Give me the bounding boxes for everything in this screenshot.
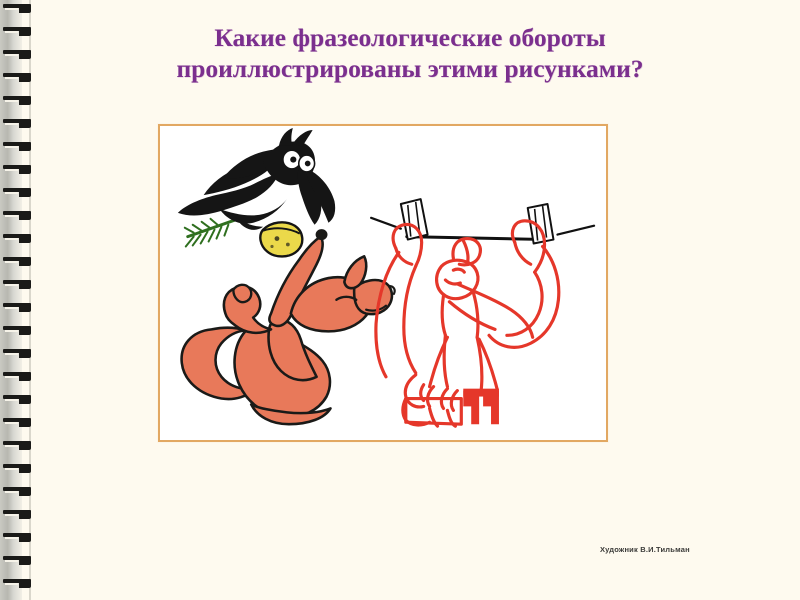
binding-ring-gap [5, 54, 18, 56]
binding-ring [3, 280, 31, 289]
binding-ring-hook [19, 27, 31, 36]
artist-credit: Художник В.И.Тильман [600, 545, 790, 554]
binding-ring-hook [19, 303, 31, 312]
title-line-2: проиллюстрированы этими рисунками? [60, 53, 760, 84]
binding-ring-hook [19, 395, 31, 404]
binding-ring-gap [5, 491, 18, 493]
binding-ring [3, 372, 31, 381]
title-line-1: Какие фразеологические обороты [60, 22, 760, 53]
binding-ring [3, 119, 31, 128]
binding-ring [3, 96, 31, 105]
binding-ring-gap [5, 123, 18, 125]
binding-ring-hook [19, 464, 31, 473]
binding-ring-hook [19, 142, 31, 151]
binding-ring-hook [19, 280, 31, 289]
binding-ring-gap [5, 445, 18, 447]
binding-ring-gap [5, 146, 18, 148]
spiral-binding [0, 0, 40, 600]
binding-ring [3, 418, 31, 427]
binding-ring-gap [5, 537, 18, 539]
binding-ring [3, 257, 31, 266]
binding-ring [3, 50, 31, 59]
binding-ring-hook [19, 4, 31, 13]
binding-ring [3, 487, 31, 496]
page-title: Какие фразеологические обороты проиллюст… [60, 22, 760, 84]
binding-ring [3, 211, 31, 220]
binding-ring [3, 303, 31, 312]
binding-ring-hook [19, 96, 31, 105]
binding-ring [3, 510, 31, 519]
binding-ring-gap [5, 169, 18, 171]
binding-ring-gap [5, 8, 18, 10]
slide-canvas: Какие фразеологические обороты проиллюст… [0, 0, 800, 600]
binding-ring-hook [19, 418, 31, 427]
binding-ring [3, 326, 31, 335]
binding-ring [3, 349, 31, 358]
binding-ring-hook [19, 73, 31, 82]
illustration-frame [158, 124, 608, 442]
binding-ring [3, 464, 31, 473]
binding-ring [3, 142, 31, 151]
binding-ring-hook [19, 211, 31, 220]
binding-ring-hook [19, 372, 31, 381]
illustration-artwork [160, 126, 606, 440]
binding-ring-gap [5, 583, 18, 585]
binding-ring-gap [5, 468, 18, 470]
binding-ring [3, 556, 31, 565]
cheese-icon [260, 222, 302, 256]
binding-ring-gap [5, 192, 18, 194]
binding-ring [3, 165, 31, 174]
binding-ring [3, 188, 31, 197]
binding-ring-gap [5, 31, 18, 33]
binding-ring-hook [19, 556, 31, 565]
binding-ring [3, 579, 31, 588]
binding-ring-gap [5, 422, 18, 424]
binding-ring-hook [19, 50, 31, 59]
binding-ring [3, 27, 31, 36]
binding-ring [3, 73, 31, 82]
binding-ring [3, 533, 31, 542]
binding-ring-gap [5, 353, 18, 355]
binding-ring-gap [5, 399, 18, 401]
binding-ring-gap [5, 261, 18, 263]
binding-ring-gap [5, 215, 18, 217]
binding-ring-gap [5, 238, 18, 240]
binding-ring-gap [5, 514, 18, 516]
binding-ring-hook [19, 188, 31, 197]
binding-ring [3, 4, 31, 13]
binding-ring-gap [5, 330, 18, 332]
binding-ring-gap [5, 284, 18, 286]
binding-ring-gap [5, 376, 18, 378]
binding-ring-hook [19, 326, 31, 335]
binding-ring-gap [5, 307, 18, 309]
binding-ring-gap [5, 77, 18, 79]
binding-ring-hook [19, 165, 31, 174]
binding-ring [3, 441, 31, 450]
binding-ring-hook [19, 257, 31, 266]
binding-ring-gap [5, 560, 18, 562]
binding-ring-hook [19, 579, 31, 588]
binding-ring-hook [19, 533, 31, 542]
binding-ring [3, 234, 31, 243]
binding-ring-hook [19, 234, 31, 243]
binding-ring-hook [19, 349, 31, 358]
binding-ring-gap [5, 100, 18, 102]
binding-ring-hook [19, 487, 31, 496]
binding-ring [3, 395, 31, 404]
binding-ring-hook [19, 441, 31, 450]
binding-ring-hook [19, 119, 31, 128]
binding-ring-hook [19, 510, 31, 519]
